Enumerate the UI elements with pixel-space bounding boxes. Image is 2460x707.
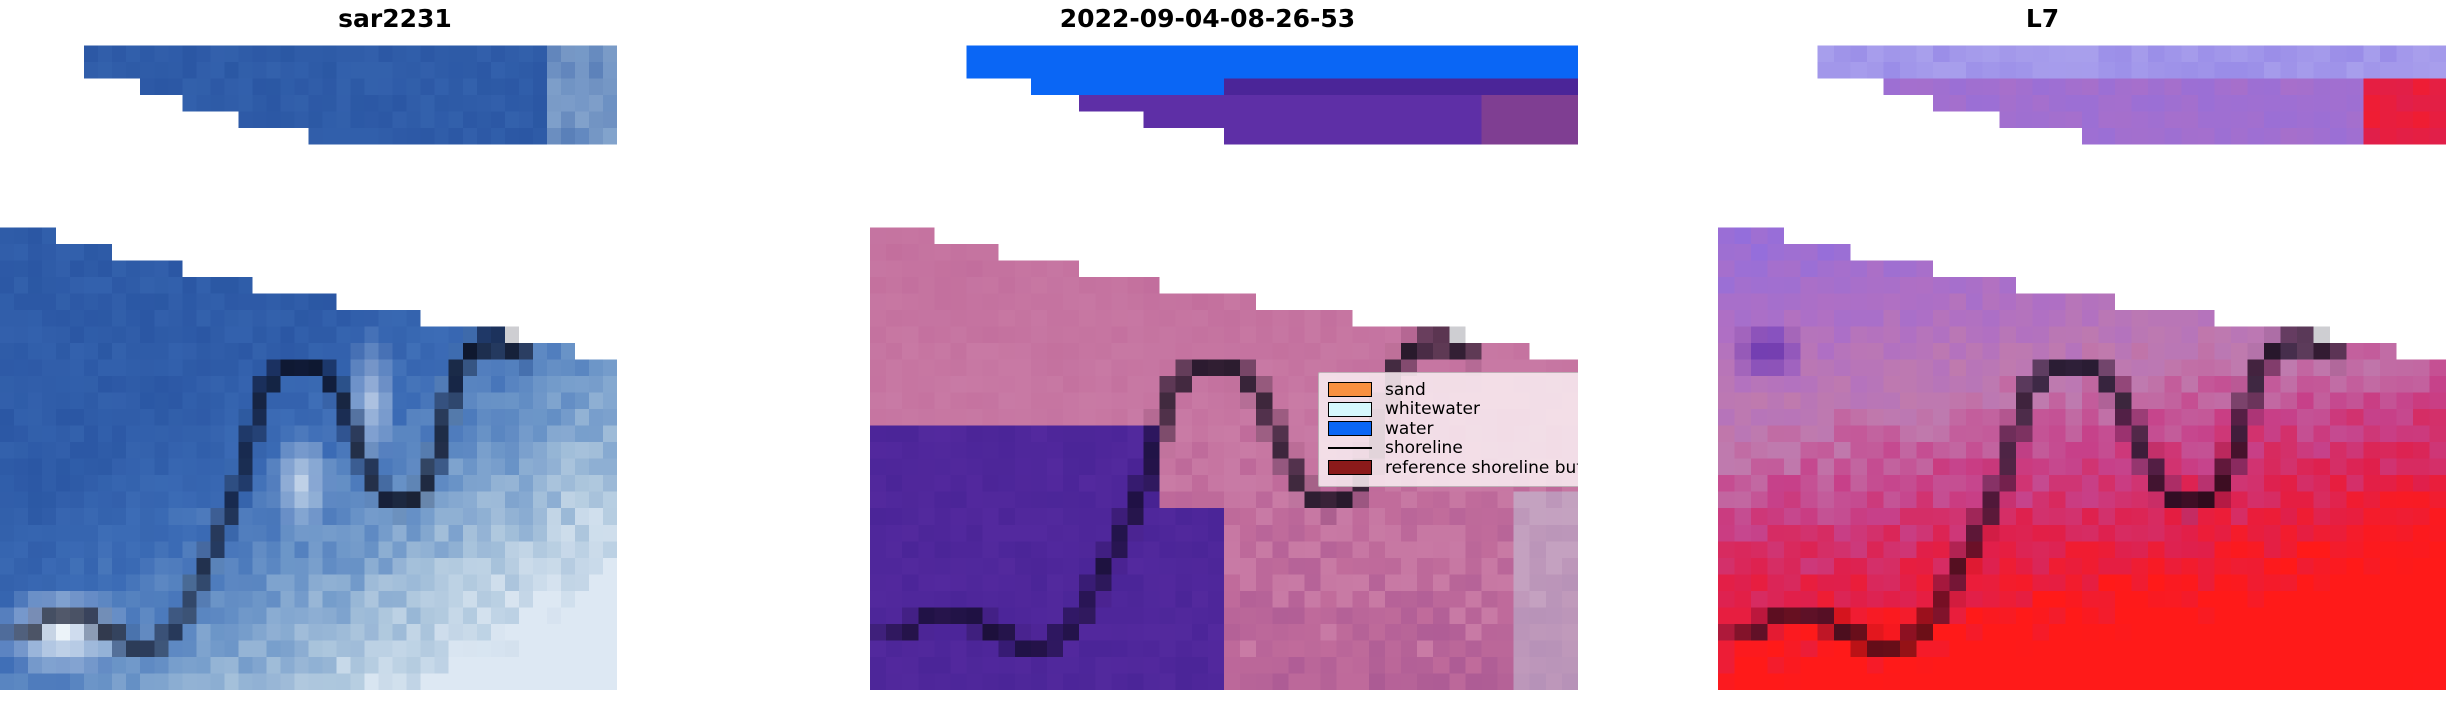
legend-swatch-reference-shoreline-buffer: [1328, 460, 1372, 475]
legend-swatch-shoreline: [1328, 447, 1372, 449]
raster-l7: [1718, 29, 2446, 690]
raster-sar: [0, 29, 617, 690]
legend-swatch-whitewater: [1328, 402, 1372, 417]
legend-item-shoreline: shoreline: [1328, 439, 1578, 459]
legend-label-reference-shoreline-buffer: reference shoreline buffer: [1385, 458, 1578, 478]
legend-swatch-sand: [1328, 382, 1372, 397]
legend-label-sand: sand: [1385, 380, 1426, 400]
legend-label-whitewater: whitewater: [1385, 399, 1480, 419]
legend-swatch-water: [1328, 421, 1372, 436]
legend-item-sand: sand: [1328, 380, 1578, 400]
legend-label-shoreline: shoreline: [1385, 438, 1463, 458]
legend-label-water: water: [1385, 419, 1433, 439]
raster-classified: [870, 29, 1578, 690]
legend-item-water: water: [1328, 419, 1578, 439]
legend: sand whitewater water shoreline referenc…: [1318, 372, 1578, 487]
legend-item-reference-shoreline-buffer: reference shoreline buffer: [1328, 458, 1578, 478]
legend-item-whitewater: whitewater: [1328, 400, 1578, 420]
axes-classified: sand whitewater water shoreline referenc…: [870, 29, 1578, 690]
panel-classified: 2022-09-04-08-26-53 sand whitewater wate…: [790, 0, 1625, 707]
panel-l7: L7: [1625, 0, 2460, 707]
axes-l7: [1718, 29, 2446, 690]
figure-canvas: sar2231 2022-09-04-08-26-53 sand whitewa…: [0, 0, 2460, 707]
axes-sar: [0, 29, 617, 690]
panel-sar: sar2231: [0, 0, 790, 707]
